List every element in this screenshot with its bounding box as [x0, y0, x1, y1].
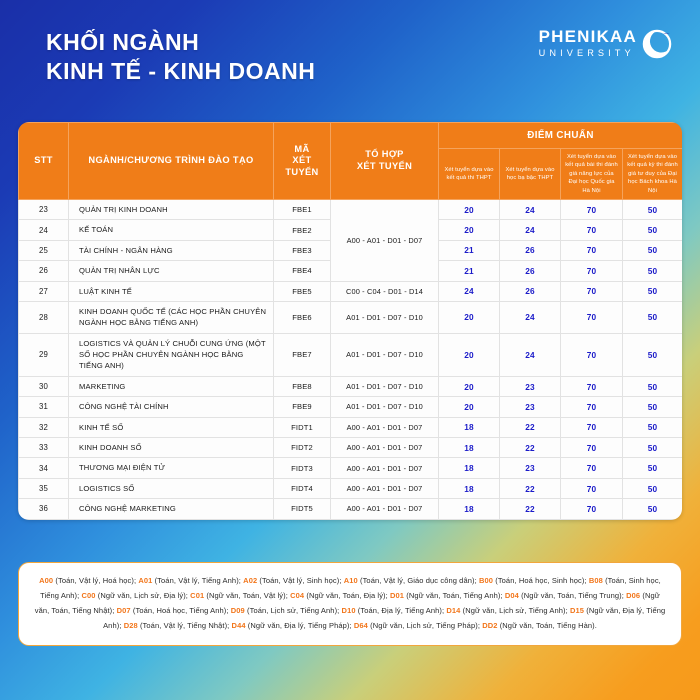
cell-program-name: MARKETING: [69, 376, 274, 396]
legend-description: (Toán, Hoá học, Tiếng Anh);: [133, 606, 231, 615]
cell-score-thpt-exam: 18: [439, 438, 500, 458]
cell-score-thpt-transcript: 23: [500, 458, 561, 478]
phenikaa-university-logo: PHENIKAA UNIVERSITY: [539, 28, 672, 61]
cell-stt: 34: [19, 458, 69, 478]
title-line-2: KINH TẾ - KINH DOANH: [46, 57, 315, 86]
cell-score-thpt-transcript: 23: [500, 397, 561, 417]
cell-score-thpt-exam: 21: [439, 240, 500, 260]
cell-program-name: KINH DOANH SỐ: [69, 438, 274, 458]
cell-stt: 28: [19, 301, 69, 333]
legend-description: (Ngữ văn, Toán, Tiếng Hàn).: [500, 621, 597, 630]
cell-score-thpt-transcript: 24: [500, 333, 561, 376]
cell-admission-code: FIDT1: [274, 417, 331, 437]
cell-subject-combo: A00 - A01 - D01 - D07: [331, 478, 439, 498]
cell-score-thpt-exam: 21: [439, 261, 500, 281]
cell-score-thpt-exam: 20: [439, 333, 500, 376]
cell-score-thpt-exam: 18: [439, 478, 500, 498]
cell-subject-combo: A00 - A01 - D01 - D07: [331, 458, 439, 478]
cell-score-vnu-aptitude: 70: [561, 376, 623, 396]
cell-stt: 35: [19, 478, 69, 498]
table-row: 29LOGISTICS VÀ QUẢN LÝ CHUỖI CUNG ỨNG (M…: [19, 333, 683, 376]
cell-stt: 31: [19, 397, 69, 417]
logo-text: PHENIKAA UNIVERSITY: [539, 28, 637, 61]
cell-stt: 25: [19, 240, 69, 260]
page-title: KHỐI NGÀNH KINH TẾ - KINH DOANH: [46, 28, 315, 87]
cell-subject-combo: A01 - D01 - D07 - D10: [331, 301, 439, 333]
cell-subject-combo: A01 - D01 - D07 - D10: [331, 376, 439, 396]
cell-program-name: KẾ TOÁN: [69, 220, 274, 240]
cell-program-name: LOGISTICS VÀ QUẢN LÝ CHUỖI CUNG ỨNG (MỘT…: [69, 333, 274, 376]
cell-subject-combo: A00 - A01 - D01 - D07: [331, 417, 439, 437]
table-body: 23QUẢN TRỊ KINH DOANHFBE1A00 - A01 - D01…: [19, 199, 683, 519]
cell-admission-code: FBE4: [274, 261, 331, 281]
cell-subject-combo: A01 - D01 - D07 - D10: [331, 333, 439, 376]
cell-admission-code: FBE5: [274, 281, 331, 301]
cell-program-name: KINH TẾ SỐ: [69, 417, 274, 437]
legend-description: (Ngữ văn, Toán, Tiếng Anh);: [406, 591, 505, 600]
legend-code: D15: [570, 606, 586, 615]
legend-code: B08: [589, 576, 605, 585]
cell-program-name: KINH DOANH QUỐC TẾ (CÁC HỌC PHẦN CHUYÊN …: [69, 301, 274, 333]
col-header-score-group: ĐIỂM CHUẨN: [439, 123, 683, 149]
cell-score-vnu-aptitude: 70: [561, 499, 623, 519]
crescent-circle-logo-icon: [642, 29, 672, 59]
cell-admission-code: FIDT4: [274, 478, 331, 498]
table-row: 33KINH DOANH SỐFIDT2A00 - A01 - D01 - D0…: [19, 438, 683, 458]
cell-score-thpt-transcript: 22: [500, 438, 561, 458]
col-header-admission-code-l1: MÃ: [294, 144, 309, 154]
table-head: STT NGÀNH/CHƯƠNG TRÌNH ĐÀO TẠO MÃ XÉT TU…: [19, 123, 683, 200]
cell-program-name: QUẢN TRỊ NHÂN LỰC: [69, 261, 274, 281]
cell-score-vnu-aptitude: 70: [561, 199, 623, 219]
cell-score-hust-thinking: 50: [623, 438, 683, 458]
legend-description: (Toán, Hoá học, Sinh học);: [495, 576, 589, 585]
legend-code: DD2: [482, 621, 500, 630]
cell-admission-code: FBE8: [274, 376, 331, 396]
cell-score-hust-thinking: 50: [623, 333, 683, 376]
table-row: 30MARKETINGFBE8A01 - D01 - D07 - D102023…: [19, 376, 683, 396]
cell-score-hust-thinking: 50: [623, 417, 683, 437]
legend-code: B00: [479, 576, 495, 585]
legend-description: (Ngữ văn, Lịch sử, Tiếng Pháp);: [370, 621, 482, 630]
cell-score-thpt-exam: 24: [439, 281, 500, 301]
legend-description: (Ngữ văn, Địa lý, Tiếng Pháp);: [248, 621, 354, 630]
cell-score-hust-thinking: 50: [623, 261, 683, 281]
cell-score-thpt-transcript: 26: [500, 240, 561, 260]
cell-score-vnu-aptitude: 70: [561, 301, 623, 333]
legend-description: (Toán, Vật lý, Tiếng Nhật);: [140, 621, 232, 630]
cell-program-name: LUẬT KINH TẾ: [69, 281, 274, 301]
cell-admission-code: FBE3: [274, 240, 331, 260]
col-header-subject-combo-l1: TỔ HỢP: [365, 149, 403, 159]
cell-score-vnu-aptitude: 70: [561, 397, 623, 417]
table-row: 31CÔNG NGHỆ TÀI CHÍNHFBE9A01 - D01 - D07…: [19, 397, 683, 417]
cell-program-name: TÀI CHÍNH - NGÂN HÀNG: [69, 240, 274, 260]
legend-code: D28: [124, 621, 140, 630]
table-row: 34THƯƠNG MẠI ĐIỆN TỬFIDT3A00 - A01 - D01…: [19, 458, 683, 478]
legend-description: (Toán, Vật lý, Sinh học);: [259, 576, 343, 585]
cell-admission-code: FIDT3: [274, 458, 331, 478]
col-header-stt: STT: [19, 123, 69, 200]
legend-code: A10: [344, 576, 360, 585]
legend-code: D07: [117, 606, 133, 615]
cell-subject-combo: A00 - A01 - D01 - D07: [331, 199, 439, 281]
cell-stt: 24: [19, 220, 69, 240]
cell-score-thpt-exam: 18: [439, 458, 500, 478]
cell-score-thpt-transcript: 22: [500, 499, 561, 519]
legend-code: D06: [626, 591, 642, 600]
cell-program-name: QUẢN TRỊ KINH DOANH: [69, 199, 274, 219]
cell-score-vnu-aptitude: 70: [561, 220, 623, 240]
legend-description: (Toán, Lịch sử, Tiếng Anh);: [247, 606, 342, 615]
cell-stt: 30: [19, 376, 69, 396]
cell-admission-code: FBE9: [274, 397, 331, 417]
cell-subject-combo: C00 - C04 - D01 - D14: [331, 281, 439, 301]
cell-score-hust-thinking: 50: [623, 397, 683, 417]
cell-stt: 23: [19, 199, 69, 219]
legend-code: A02: [243, 576, 259, 585]
cell-stt: 32: [19, 417, 69, 437]
table-row: 35LOGISTICS SỐFIDT4A00 - A01 - D01 - D07…: [19, 478, 683, 498]
cell-admission-code: FIDT5: [274, 499, 331, 519]
legend-description: (Ngữ văn, Lịch sử, Địa lý);: [98, 591, 190, 600]
cell-score-thpt-transcript: 23: [500, 376, 561, 396]
cell-program-name: CÔNG NGHỆ MARKETING: [69, 499, 274, 519]
legend-description: (Ngữ văn, Toán, Vật lý);: [206, 591, 290, 600]
legend-description: (Toán, Vật lý, Tiếng Anh);: [155, 576, 244, 585]
legend-description: (Ngữ văn, Toán, Tiếng Trung);: [521, 591, 626, 600]
cell-score-thpt-exam: 18: [439, 499, 500, 519]
cell-score-thpt-exam: 18: [439, 417, 500, 437]
table-row: 28KINH DOANH QUỐC TẾ (CÁC HỌC PHẦN CHUYÊ…: [19, 301, 683, 333]
cell-score-vnu-aptitude: 70: [561, 417, 623, 437]
cell-program-name: CÔNG NGHỆ TÀI CHÍNH: [69, 397, 274, 417]
cell-score-hust-thinking: 50: [623, 478, 683, 498]
cell-admission-code: FBE6: [274, 301, 331, 333]
legend-code: D14: [446, 606, 462, 615]
table-row: 27LUẬT KINH TẾFBE5C00 - C04 - D01 - D142…: [19, 281, 683, 301]
cell-admission-code: FBE2: [274, 220, 331, 240]
cell-score-thpt-exam: 20: [439, 301, 500, 333]
legend-code: C01: [190, 591, 206, 600]
cell-score-hust-thinking: 50: [623, 301, 683, 333]
cell-admission-code: FBE7: [274, 333, 331, 376]
cell-score-hust-thinking: 50: [623, 458, 683, 478]
col-header-subject-combo: TỔ HỢP XÉT TUYỂN: [331, 123, 439, 200]
cell-score-vnu-aptitude: 70: [561, 458, 623, 478]
cell-score-thpt-transcript: 24: [500, 301, 561, 333]
logo-subtitle: UNIVERSITY: [539, 47, 637, 61]
title-line-1: KHỐI NGÀNH: [46, 28, 315, 57]
cell-score-hust-thinking: 50: [623, 376, 683, 396]
cell-score-thpt-transcript: 22: [500, 478, 561, 498]
page-header: KHỐI NGÀNH KINH TẾ - KINH DOANH PHENIKAA…: [0, 0, 700, 118]
col-header-score-hust-thinking: Xét tuyển dựa vào kết quả kỳ thi đánh gi…: [623, 149, 683, 200]
legend-description: (Ngữ văn, Lịch sử, Tiếng Anh);: [463, 606, 570, 615]
legend-description: (Toán, Vật lý, Giáo dục công dân);: [360, 576, 479, 585]
cell-subject-combo: A00 - A01 - D01 - D07: [331, 438, 439, 458]
legend-code: D64: [354, 621, 370, 630]
legend-code: C04: [290, 591, 306, 600]
cell-subject-combo: A01 - D01 - D07 - D10: [331, 397, 439, 417]
cell-score-vnu-aptitude: 70: [561, 240, 623, 260]
legend-code: D10: [342, 606, 358, 615]
cell-score-thpt-exam: 20: [439, 397, 500, 417]
cell-score-vnu-aptitude: 70: [561, 261, 623, 281]
cell-score-vnu-aptitude: 70: [561, 478, 623, 498]
col-header-score-vnu-aptitude: Xét tuyển dựa vào kết quả bài thi đánh g…: [561, 149, 623, 200]
col-header-score-thpt-transcript: Xét tuyển dựa vào học bạ bậc THPT: [500, 149, 561, 200]
legend-code: A01: [138, 576, 154, 585]
legend-code: D09: [231, 606, 247, 615]
cell-admission-code: FBE1: [274, 199, 331, 219]
legend-code: D01: [390, 591, 406, 600]
table-row: 36CÔNG NGHỆ MARKETINGFIDT5A00 - A01 - D0…: [19, 499, 683, 519]
cell-score-hust-thinking: 50: [623, 499, 683, 519]
cell-stt: 33: [19, 438, 69, 458]
cell-score-hust-thinking: 50: [623, 199, 683, 219]
admission-score-table: STT NGÀNH/CHƯƠNG TRÌNH ĐÀO TẠO MÃ XÉT TU…: [18, 122, 682, 520]
cell-score-thpt-transcript: 26: [500, 261, 561, 281]
col-header-score-thpt-exam: Xét tuyển dựa vào kết quả thi THPT: [439, 149, 500, 200]
legend-description: (Toán, Địa lý, Tiếng Anh);: [358, 606, 447, 615]
col-header-subject-combo-l2: XÉT TUYỂN: [357, 161, 412, 171]
cell-score-thpt-transcript: 24: [500, 220, 561, 240]
cell-score-vnu-aptitude: 70: [561, 438, 623, 458]
col-header-admission-code-l2: XÉT TUYỂN: [285, 155, 318, 177]
legend-code: C00: [81, 591, 97, 600]
logo-name: PHENIKAA: [539, 28, 637, 45]
cell-score-hust-thinking: 50: [623, 281, 683, 301]
legend-code: A00: [39, 576, 55, 585]
legend-description: (Toán, Vật lý, Hoá học);: [55, 576, 138, 585]
cell-score-vnu-aptitude: 70: [561, 281, 623, 301]
table-head-row-1: STT NGÀNH/CHƯƠNG TRÌNH ĐÀO TẠO MÃ XÉT TU…: [19, 123, 683, 149]
cell-score-vnu-aptitude: 70: [561, 333, 623, 376]
cell-stt: 27: [19, 281, 69, 301]
cell-score-hust-thinking: 50: [623, 240, 683, 260]
legend-description: (Ngữ văn, Toán, Địa lý);: [306, 591, 390, 600]
cell-score-thpt-exam: 20: [439, 199, 500, 219]
table-row: 32KINH TẾ SỐFIDT1A00 - A01 - D01 - D0718…: [19, 417, 683, 437]
cell-stt: 36: [19, 499, 69, 519]
cell-admission-code: FIDT2: [274, 438, 331, 458]
legend-code: D04: [505, 591, 521, 600]
cell-score-thpt-transcript: 22: [500, 417, 561, 437]
cell-score-hust-thinking: 50: [623, 220, 683, 240]
col-header-program: NGÀNH/CHƯƠNG TRÌNH ĐÀO TẠO: [69, 123, 274, 200]
col-header-admission-code: MÃ XÉT TUYỂN: [274, 123, 331, 200]
cell-score-thpt-transcript: 26: [500, 281, 561, 301]
subject-combination-legend: A00 (Toán, Vật lý, Hoá học); A01 (Toán, …: [18, 562, 682, 646]
cell-score-thpt-exam: 20: [439, 220, 500, 240]
legend-content: A00 (Toán, Vật lý, Hoá học); A01 (Toán, …: [35, 576, 666, 630]
cell-program-name: LOGISTICS SỐ: [69, 478, 274, 498]
legend-code: D44: [232, 621, 248, 630]
cell-program-name: THƯƠNG MẠI ĐIỆN TỬ: [69, 458, 274, 478]
table-row: 23QUẢN TRỊ KINH DOANHFBE1A00 - A01 - D01…: [19, 199, 683, 219]
cell-stt: 26: [19, 261, 69, 281]
cell-stt: 29: [19, 333, 69, 376]
cell-score-thpt-transcript: 24: [500, 199, 561, 219]
cell-subject-combo: A00 - A01 - D01 - D07: [331, 499, 439, 519]
cell-score-thpt-exam: 20: [439, 376, 500, 396]
